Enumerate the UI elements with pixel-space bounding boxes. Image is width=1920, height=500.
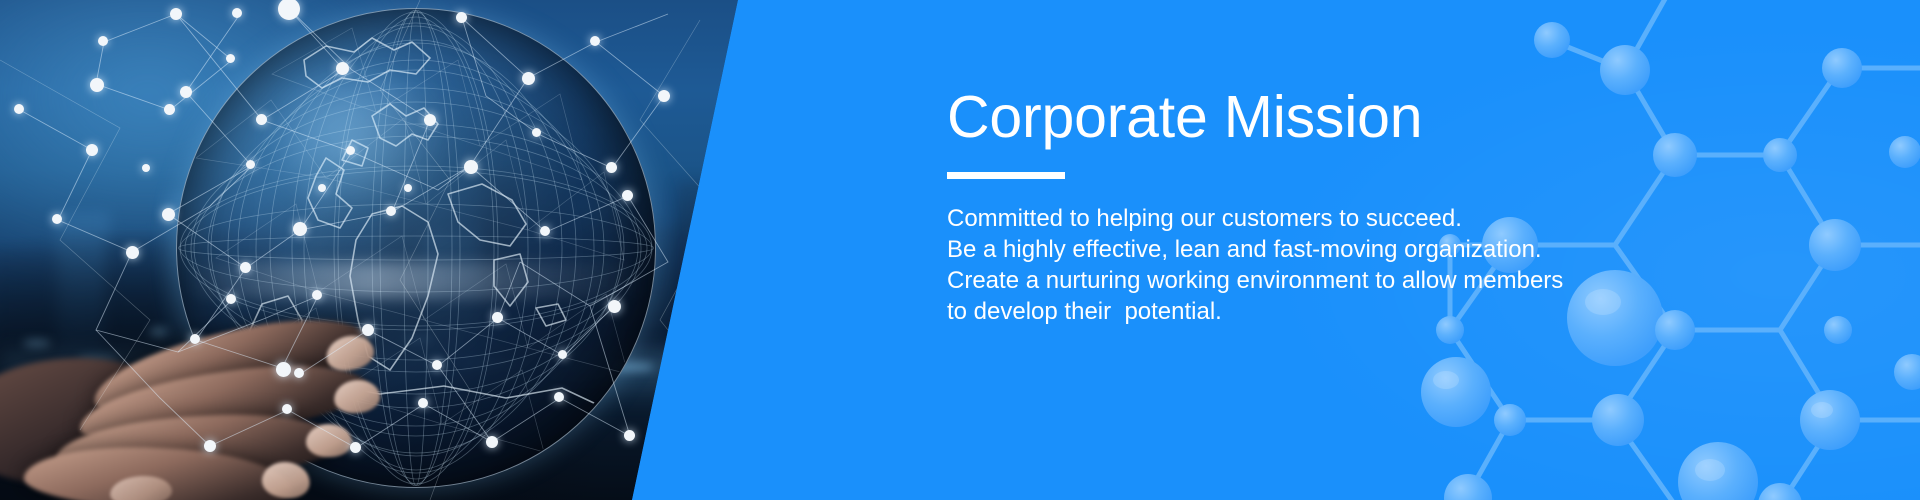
mission-line-2: Be a highly effective, lean and fast-mov… bbox=[947, 234, 1847, 265]
mission-statement: Committed to helping our customers to su… bbox=[947, 203, 1847, 327]
title-divider bbox=[947, 172, 1065, 179]
banner-photo bbox=[0, 0, 760, 500]
mission-line-4: to develop their potential. bbox=[947, 296, 1847, 327]
network-nodes bbox=[0, 0, 760, 500]
banner-content: Corporate Mission Committed to helping o… bbox=[947, 86, 1847, 327]
mission-line-1: Committed to helping our customers to su… bbox=[947, 203, 1847, 234]
mission-line-3: Create a nurturing working environment t… bbox=[947, 265, 1847, 296]
corporate-mission-banner: Corporate Mission Committed to helping o… bbox=[0, 0, 1920, 500]
page-title: Corporate Mission bbox=[947, 86, 1847, 150]
